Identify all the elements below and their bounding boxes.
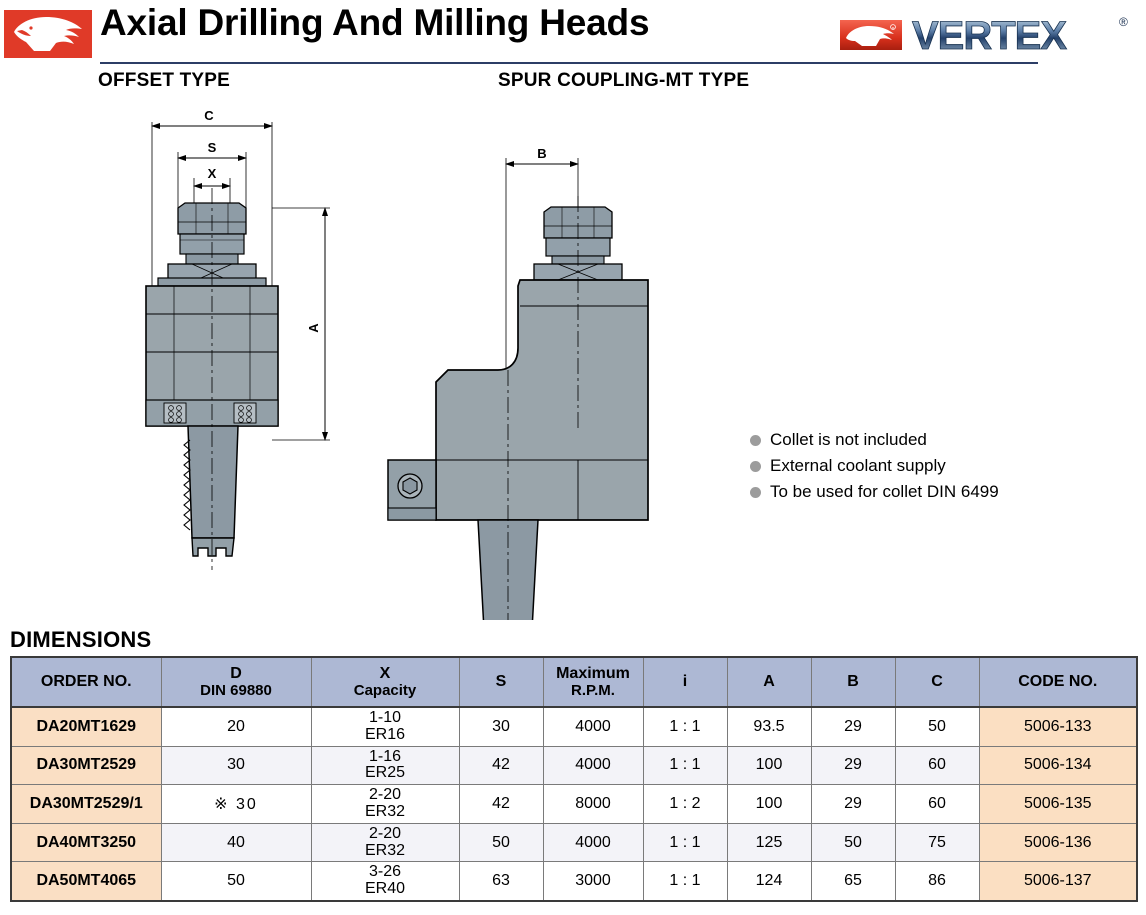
svg-text:VERTEX: VERTEX: [912, 14, 1067, 58]
table-row: DA40MT3250 40 2-20 ER32 50 4000 1 : 1 12…: [11, 823, 1137, 862]
cell-i: 1 : 1: [643, 707, 727, 746]
bullet-icon: [750, 435, 761, 446]
cell-rpm: 8000: [543, 785, 643, 824]
cell-order-no: DA30MT2529: [11, 746, 161, 785]
cell-rpm: 4000: [543, 707, 643, 746]
cell-rpm: 4000: [543, 746, 643, 785]
cell-x-capacity: 1-10 ER16: [311, 707, 459, 746]
vertex-brand-logo: R VERTEX ®: [836, 8, 1136, 60]
cell-d: 40: [161, 823, 311, 862]
cell-b: 65: [811, 862, 895, 901]
cell-s: 42: [459, 785, 543, 824]
cell-a: 124: [727, 862, 811, 901]
col-a: A: [727, 657, 811, 707]
registered-mark: ®: [1119, 15, 1128, 29]
col-code-no: CODE NO.: [979, 657, 1137, 707]
cell-c: 60: [895, 785, 979, 824]
cell-a: 100: [727, 785, 811, 824]
note-text: To be used for collet DIN 6499: [770, 482, 999, 502]
cell-rpm: 3000: [543, 862, 643, 901]
cell-x-capacity: 1-16 ER25: [311, 746, 459, 785]
cell-s: 63: [459, 862, 543, 901]
page-title: Axial Drilling And Milling Heads: [100, 2, 649, 44]
col-i: i: [643, 657, 727, 707]
cell-i: 1 : 1: [643, 862, 727, 901]
dimensions-table-container: ORDER NO. D DIN 69880 X Capacity S Maxim…: [10, 656, 1136, 902]
cell-i: 1 : 1: [643, 823, 727, 862]
bullet-icon: [750, 487, 761, 498]
cell-c: 50: [895, 707, 979, 746]
cell-code-no: 5006-136: [979, 823, 1137, 862]
svg-text:X: X: [208, 166, 217, 181]
cell-s: 50: [459, 823, 543, 862]
title-divider: [100, 62, 1038, 64]
cell-a: 125: [727, 823, 811, 862]
cell-i: 1 : 2: [643, 785, 727, 824]
cell-x-capacity: 3-26 ER40: [311, 862, 459, 901]
offset-type-drawing: C S X A: [146, 108, 330, 570]
table-row: DA20MT1629 20 1-10 ER16 30 4000 1 : 1 93…: [11, 707, 1137, 746]
dimensions-heading: DIMENSIONS: [10, 627, 151, 653]
col-d: D DIN 69880: [161, 657, 311, 707]
cell-x-capacity: 2-20 ER32: [311, 823, 459, 862]
cell-order-no: DA50MT4065: [11, 862, 161, 901]
note-text: Collet is not included: [770, 430, 927, 450]
col-s: S: [459, 657, 543, 707]
svg-text:A: A: [306, 323, 321, 333]
table-row: DA30MT2529 30 1-16 ER25 42 4000 1 : 1 10…: [11, 746, 1137, 785]
cell-c: 75: [895, 823, 979, 862]
subtitle-offset-type: OFFSET TYPE: [98, 70, 230, 92]
dimensions-table: ORDER NO. D DIN 69880 X Capacity S Maxim…: [10, 656, 1138, 902]
cell-b: 29: [811, 785, 895, 824]
col-x-capacity: X Capacity: [311, 657, 459, 707]
cell-a: 100: [727, 746, 811, 785]
cell-x-capacity: 2-20 ER32: [311, 785, 459, 824]
page-header: Axial Drilling And Milling Heads: [0, 0, 1146, 62]
cell-d: ※ 30: [161, 785, 311, 824]
cell-a: 93.5: [727, 707, 811, 746]
note-item: Collet is not included: [750, 430, 1120, 450]
col-b: B: [811, 657, 895, 707]
svg-text:B: B: [537, 146, 546, 161]
col-order-no: ORDER NO.: [11, 657, 161, 707]
table-row: DA30MT2529/1 ※ 30 2-20 ER32 42 8000 1 : …: [11, 785, 1137, 824]
cell-s: 30: [459, 707, 543, 746]
cell-d: 30: [161, 746, 311, 785]
note-item: To be used for collet DIN 6499: [750, 482, 1120, 502]
svg-text:S: S: [208, 140, 217, 155]
svg-text:C: C: [204, 108, 214, 123]
cell-code-no: 5006-137: [979, 862, 1137, 901]
cell-order-no: DA40MT3250: [11, 823, 161, 862]
notes-list: Collet is not included External coolant …: [750, 430, 1120, 508]
cell-order-no: DA20MT1629: [11, 707, 161, 746]
cell-s: 42: [459, 746, 543, 785]
cell-code-no: 5006-135: [979, 785, 1137, 824]
cell-i: 1 : 1: [643, 746, 727, 785]
bullet-icon: [750, 461, 761, 472]
col-maximum-rpm: Maximum R.P.M.: [543, 657, 643, 707]
cell-order-no: DA30MT2529/1: [11, 785, 161, 824]
cell-b: 29: [811, 707, 895, 746]
eagle-head-icon: [4, 10, 92, 58]
svg-text:R: R: [892, 26, 895, 30]
spur-coupling-mt-type-drawing: B: [388, 146, 648, 620]
cell-b: 50: [811, 823, 895, 862]
table-row: DA50MT4065 50 3-26 ER40 63 3000 1 : 1 12…: [11, 862, 1137, 901]
cell-d: 50: [161, 862, 311, 901]
technical-drawings: C S X A: [0, 100, 1146, 620]
note-item: External coolant supply: [750, 456, 1120, 476]
cell-c: 60: [895, 746, 979, 785]
table-header-row: ORDER NO. D DIN 69880 X Capacity S Maxim…: [11, 657, 1137, 707]
note-text: External coolant supply: [770, 456, 946, 476]
cell-code-no: 5006-134: [979, 746, 1137, 785]
subtitle-spur-coupling-type: SPUR COUPLING-MT TYPE: [498, 70, 749, 92]
cell-rpm: 4000: [543, 823, 643, 862]
cell-b: 29: [811, 746, 895, 785]
cell-d: 20: [161, 707, 311, 746]
cell-code-no: 5006-133: [979, 707, 1137, 746]
col-c: C: [895, 657, 979, 707]
cell-c: 86: [895, 862, 979, 901]
